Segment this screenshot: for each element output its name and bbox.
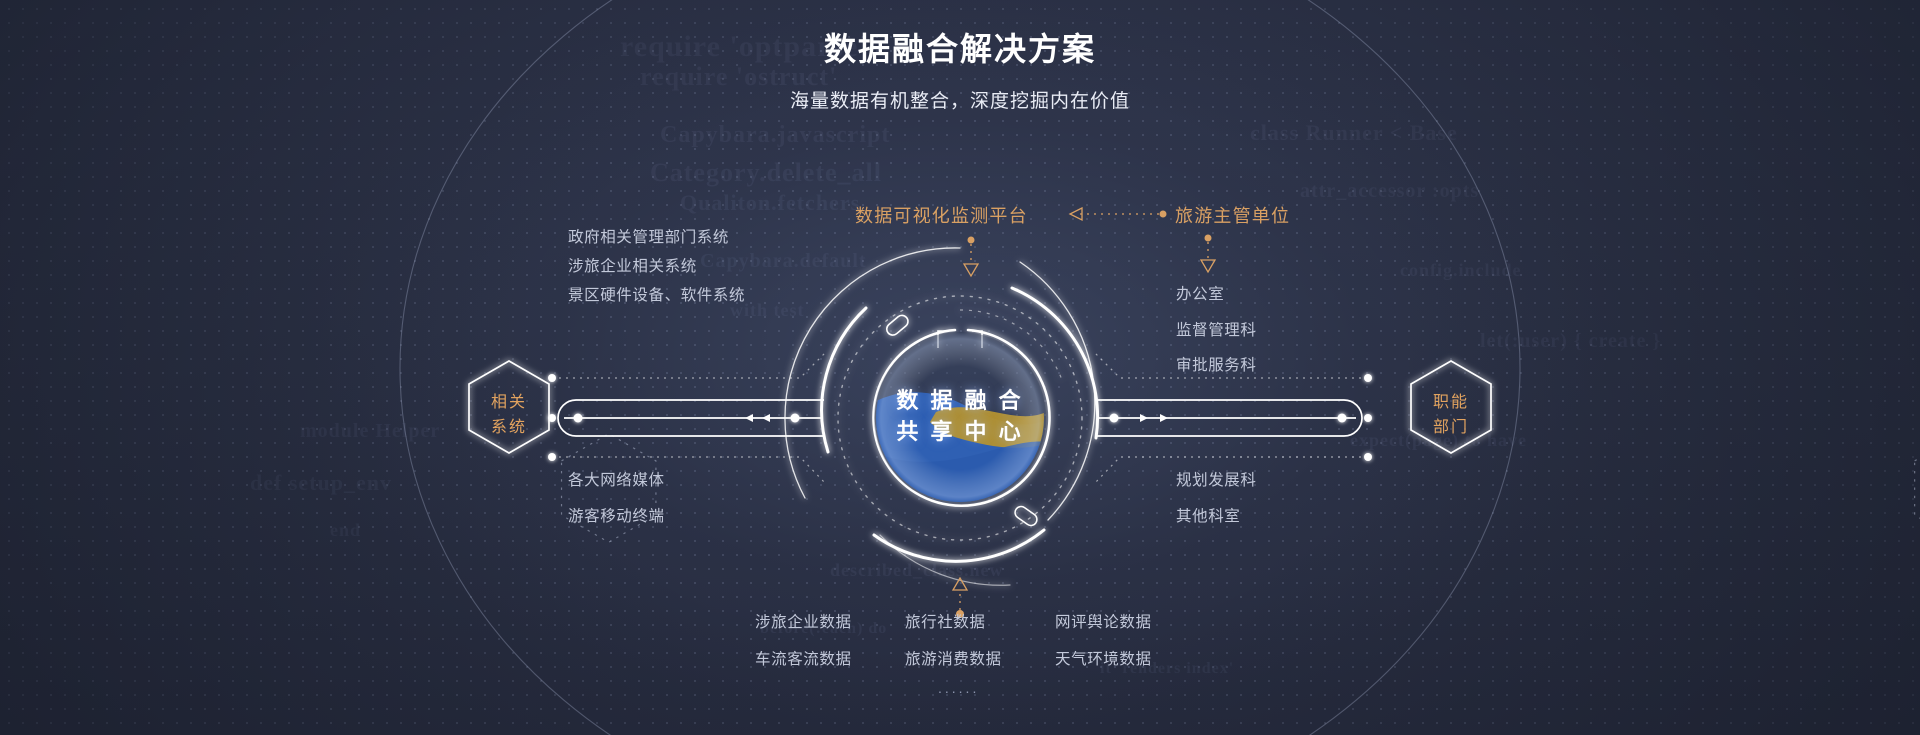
right-dept-3: 规划发展科: [1176, 468, 1257, 490]
core-label: 数 据 融 合 共 享 中 心: [860, 385, 1060, 447]
left-source-3: 各大网络媒体: [568, 468, 665, 490]
bottom-data-1-2: 天气环境数据: [1055, 647, 1152, 669]
right-dept-0: 办公室: [1176, 282, 1224, 304]
page-title: 数据融合解决方案: [0, 30, 1920, 68]
node-data-visualization-platform[interactable]: 数据可视化监测平台: [855, 202, 1028, 228]
left-source-4: 游客移动终端: [568, 504, 665, 526]
hexagon-left-label: 相关 系统: [443, 391, 575, 441]
infographic-canvas: require 'optparse'require 'ostruct'Capyb…: [0, 0, 1920, 735]
bottom-data-0-2: 网评舆论数据: [1055, 610, 1152, 632]
bottom-data-0-1: 旅行社数据: [905, 610, 986, 632]
header: 数据融合解决方案 海量数据有机整合，深度挖掘内在价值: [0, 30, 1920, 113]
hexagon-left-line1: 相关: [443, 391, 575, 416]
node-tourism-authority[interactable]: 旅游主管单位: [1175, 202, 1290, 228]
hexagon-left-line2: 系统: [443, 416, 575, 441]
page-subtitle: 海量数据有机整合，深度挖掘内在价值: [0, 86, 1920, 113]
left-source-2: 景区硬件设备、软件系统: [568, 283, 745, 305]
connector-left: [548, 352, 826, 484]
hexagon-right-label: 职能 部门: [1385, 391, 1517, 441]
hexagon-right[interactable]: [1411, 361, 1920, 542]
hexagon-right-line2: 部门: [1385, 416, 1517, 441]
core-line2: 共 享 中 心: [860, 416, 1060, 447]
hexagon-right-line1: 职能: [1385, 391, 1517, 416]
bottom-data-more: ......: [938, 680, 979, 696]
bottom-data-1-1: 旅游消费数据: [905, 647, 1002, 669]
right-dept-2: 审批服务科: [1176, 353, 1257, 375]
right-dept-1: 监督管理科: [1176, 318, 1257, 340]
core-line1: 数 据 融 合: [860, 385, 1060, 416]
bottom-data-0-0: 涉旅企业数据: [755, 610, 852, 632]
bottom-data-1-0: 车流客流数据: [755, 647, 852, 669]
left-source-1: 涉旅企业相关系统: [568, 254, 697, 276]
right-dept-4: 其他科室: [1176, 504, 1240, 526]
left-source-0: 政府相关管理部门系统: [568, 225, 729, 247]
